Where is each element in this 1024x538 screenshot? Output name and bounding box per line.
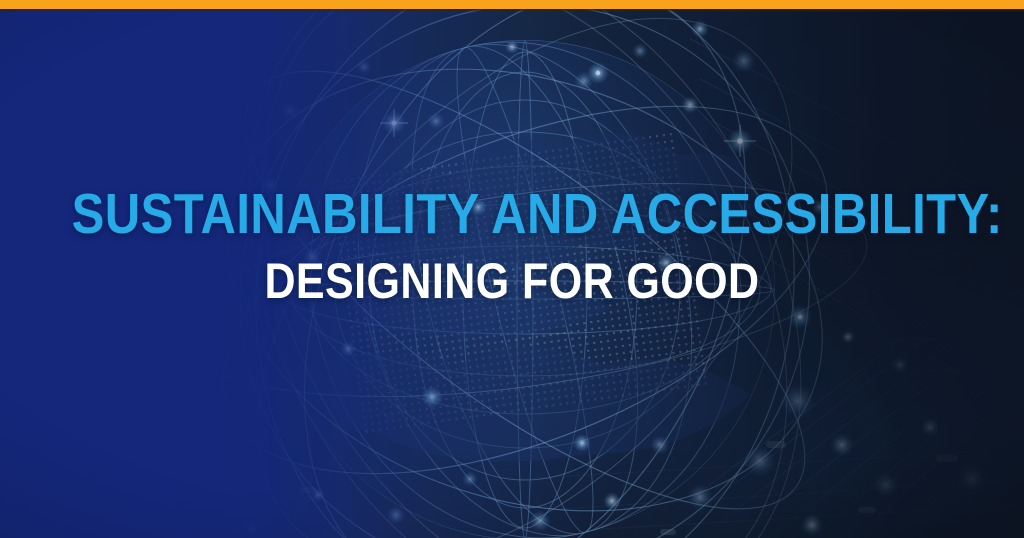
banner-title-line-2: Designing for Good: [72, 256, 953, 306]
banner-title-block: Sustainability and Accessibility: Design…: [0, 186, 1024, 306]
top-accent-bar-shadow: [0, 9, 1024, 12]
article-hero-banner: Sustainability and Accessibility: Design…: [0, 0, 1024, 538]
banner-title-line-1: Sustainability and Accessibility:: [72, 186, 953, 256]
top-accent-bar: [0, 0, 1024, 9]
